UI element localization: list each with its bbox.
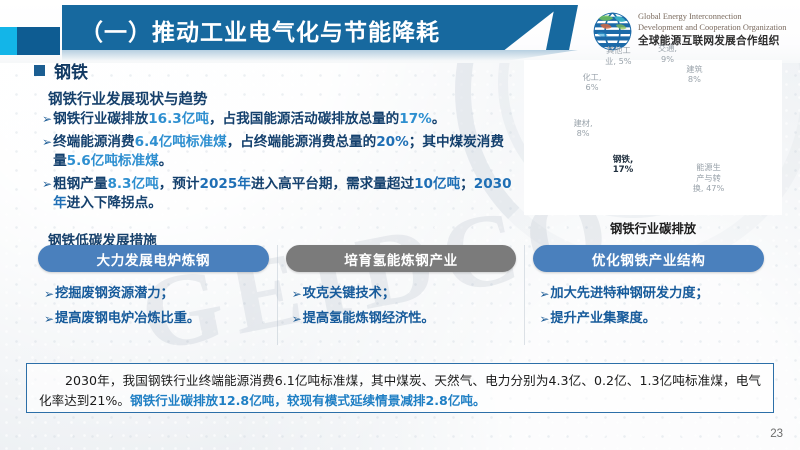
fact-highlight-segment: 8.3亿吨 [107, 176, 158, 192]
page-title: （一）推动工业电气化与节能降耗 [80, 13, 440, 47]
measure-item-label: 提高废钢电炉冶炼比重。 [55, 310, 200, 327]
title-banner-reflection [62, 50, 578, 61]
fact-highlight-segment: 17% [399, 111, 432, 127]
fact-item: ➢终端能源消费6.4亿吨标准煤，占终端能源消费总量的20%；其中煤炭消费量5.6… [42, 133, 512, 172]
pie-label-5: 建材, 8% [557, 118, 609, 139]
summary-callout-text: 2030年，我国钢铁行业终端能源消费6.1亿吨标准煤，其中煤炭、天然气、电力分别… [27, 364, 773, 411]
pie-label-3: 其他工 业, 5% [592, 45, 644, 66]
measure-column: 优化钢铁产业结构➢加大先进特种钢研发力度；➢提升产业集聚度。 [524, 245, 772, 345]
fact-text-segment: ，占终端能源消费总量的 [227, 134, 377, 150]
measure-list-item: ➢提高废钢电炉冶炼比重。 [44, 310, 269, 329]
fact-text-segment: 。 [159, 153, 173, 169]
fact-highlight-segment: 5.6亿吨标准煤 [67, 153, 159, 169]
fact-item: ➢粗钢产量8.3亿吨，预计2025年进入高平台期，需求量超过10亿吨；2030年… [42, 175, 512, 214]
measure-list-item: ➢提升产业集聚度。 [539, 310, 764, 329]
measure-item-list: ➢挖掘废钢资源潜力；➢提高废钢电炉冶炼比重。 [38, 285, 269, 329]
fact-text-segment: 。 [432, 111, 446, 127]
fact-highlight-segment: 20% [376, 134, 409, 150]
section-heading: 钢铁 [34, 58, 88, 83]
arrow-bullet-icon: ➢ [42, 175, 52, 194]
section-heading-label: 钢铁 [54, 58, 88, 83]
header-accent-blue [17, 27, 60, 55]
arrow-bullet-icon: ➢ [539, 310, 549, 329]
chart-title: 钢铁行业碳排放 [524, 219, 782, 237]
fact-text-segment: 钢铁行业碳排放 [53, 111, 148, 127]
measure-list-item: ➢提高氢能炼钢经济性。 [292, 310, 517, 329]
measure-list-item: ➢攻克关键技术； [292, 285, 517, 304]
measure-pill-button[interactable]: 培育氢能炼钢产业 [286, 245, 517, 272]
footer-highlight-segment: 钢铁行业碳排放12.8亿吨，较现有模式延续情景减排2.8亿吨。 [130, 393, 486, 408]
measure-item-label: 提升产业集聚度。 [550, 310, 656, 327]
fact-text-segment: 粗钢产量 [53, 176, 107, 192]
logo-line-en-1: Global Energy Interconnection [638, 12, 786, 23]
measure-list-item: ➢挖掘废钢资源潜力； [44, 285, 269, 304]
fact-highlight-segment: 2025年 [200, 176, 251, 192]
arrow-bullet-icon: ➢ [44, 285, 54, 304]
arrow-bullet-icon: ➢ [44, 310, 54, 329]
measure-item-label: 加大先进特种钢研发力度； [550, 285, 708, 302]
arrow-bullet-icon: ➢ [292, 285, 302, 304]
fact-text-segment: ，占我国能源活动碳排放总量的 [209, 111, 399, 127]
measure-pill-button[interactable]: 优化钢铁产业结构 [533, 245, 764, 272]
fact-text-segment: 进入下降拐点。 [67, 195, 162, 211]
measure-item-list: ➢加大先进特种钢研发力度；➢提升产业集聚度。 [533, 285, 764, 329]
fact-text-segment: 终端能源消费 [53, 134, 135, 150]
fact-text-segment: ； [460, 176, 474, 192]
pie-label-2: 交通, 9% [642, 43, 694, 64]
fact-text: 粗钢产量8.3亿吨，预计2025年进入高平台期，需求量超过10亿吨；2030年进… [53, 175, 512, 214]
measure-pill-button[interactable]: 大力发展电炉炼钢 [38, 245, 269, 272]
measure-item-list: ➢攻克关键技术；➢提高氢能炼钢经济性。 [286, 285, 517, 329]
logo-line-en-2: Development and Cooperation Organization [638, 23, 786, 34]
fact-text: 钢铁行业碳排放16.3亿吨，占我国能源活动碳排放总量的17%。 [53, 110, 445, 130]
pie-label-4: 化工, 6% [566, 72, 618, 93]
pie-label-1: 建筑 8% [668, 64, 720, 85]
measures-columns: 大力发展电炉炼钢➢挖掘废钢资源潜力；➢提高废钢电炉冶炼比重。培育氢能炼钢产业➢攻… [30, 245, 772, 345]
arrow-bullet-icon: ➢ [292, 310, 302, 329]
measure-column: 大力发展电炉炼钢➢挖掘废钢资源潜力；➢提高废钢电炉冶炼比重。 [30, 245, 277, 345]
square-bullet-icon [34, 65, 45, 76]
fact-text: 终端能源消费6.4亿吨标准煤，占终端能源消费总量的20%；其中煤炭消费量5.6亿… [53, 133, 512, 172]
summary-callout-box: 2030年，我国钢铁行业终端能源消费6.1亿吨标准煤，其中煤炭、天然气、电力分别… [26, 363, 774, 413]
measure-list-item: ➢加大先进特种钢研发力度； [539, 285, 764, 304]
fact-item: ➢钢铁行业碳排放16.3亿吨，占我国能源活动碳排放总量的17%。 [42, 110, 512, 130]
pie-label-0: 能源生 产与转 换, 47% [683, 162, 735, 194]
fact-highlight-segment: 10亿吨 [414, 176, 460, 192]
measure-column: 培育氢能炼钢产业➢攻克关键技术；➢提高氢能炼钢经济性。 [277, 245, 525, 345]
page-number: 23 [770, 428, 783, 440]
subsection-heading: 钢铁行业发展现状与趋势 [48, 88, 208, 109]
arrow-bullet-icon: ➢ [42, 133, 52, 152]
pie-label-6: 钢铁, 17% [597, 155, 649, 176]
measure-item-label: 攻克关键技术； [303, 285, 395, 302]
measure-item-label: 提高氢能炼钢经济性。 [303, 310, 435, 327]
fact-highlight-segment: 6.4亿吨标准煤 [135, 134, 227, 150]
fact-highlight-segment: 16.3亿吨 [148, 111, 209, 127]
fact-text-segment: ，预计 [159, 176, 200, 192]
arrow-bullet-icon: ➢ [42, 110, 52, 129]
measure-item-label: 挖掘废钢资源潜力； [55, 285, 174, 302]
arrow-bullet-icon: ➢ [539, 285, 549, 304]
fact-text-segment: 进入高平台期，需求量超过 [251, 176, 414, 192]
facts-list: ➢钢铁行业碳排放16.3亿吨，占我国能源活动碳排放总量的17%。➢终端能源消费6… [42, 110, 512, 217]
